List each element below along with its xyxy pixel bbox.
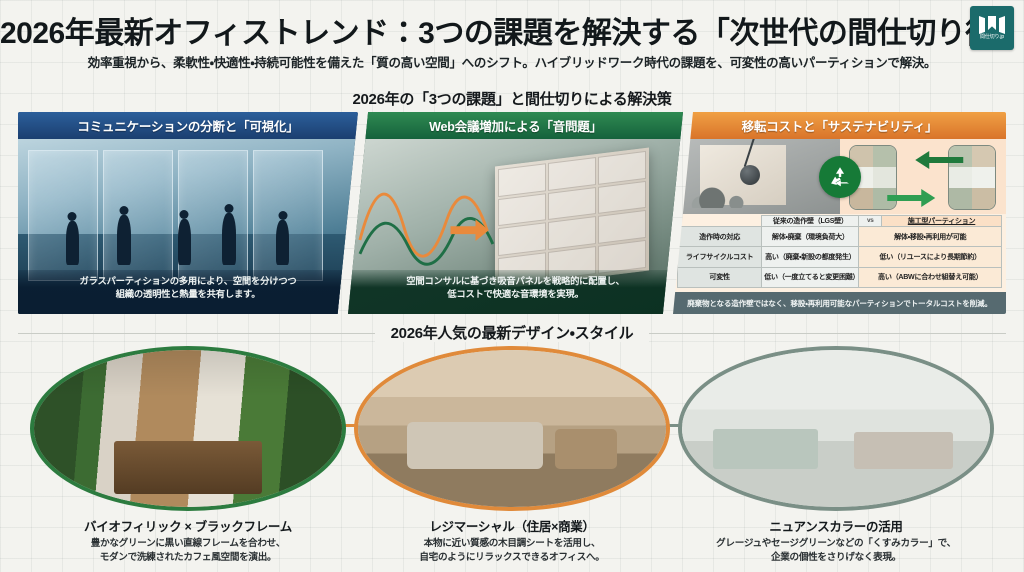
style-card-biophilic[interactable]: バイオフィリック × ブラックフレーム 豊かなグリーンに黒い直線フレームを合わせ… [30, 346, 346, 511]
style-caption-biophilic: バイオフィリック × ブラックフレーム 豊かなグリーンに黒い直線フレームを合わせ… [22, 516, 354, 565]
logo-text: 間仕切り.jp [980, 35, 1004, 40]
style-photo-resimercial [354, 346, 670, 511]
table-row: 造作時の対応 解体・廃棄（環境負荷大） 解体・移設・再利用が可能 [678, 227, 1002, 247]
table-cell-partition: 解体・移設・再利用が可能 [859, 227, 1002, 247]
table-cell-partition: 低い（リユースにより長期節約） [859, 247, 1002, 267]
recycle-icon [819, 156, 861, 198]
reuse-arrows-icon [840, 139, 1007, 214]
style-card-resimercial[interactable]: レジマーシャル（住居×商業） 本物に近い質感の木目調シートを活用し、 自宅のよう… [354, 346, 670, 511]
style-caption-resimercial: レジマーシャル（住居×商業） 本物に近い質感の木目調シートを活用し、 自宅のよう… [346, 516, 678, 565]
table-row-label: 造作時の対応 [678, 227, 762, 247]
table-row: ライフサイクルコスト 高い（廃棄・新設の都度発生） 低い（リユースにより長期節約… [678, 247, 1002, 267]
table-row-label: 可変性 [678, 267, 762, 287]
table-cell-conventional: 高い（廃棄・新設の都度発生） [762, 247, 859, 267]
design-style-cards: バイオフィリック × ブラックフレーム 豊かなグリーンに黒い直線フレームを合わせ… [18, 346, 1006, 566]
style-photo-biophilic [30, 346, 346, 511]
table-header-row: 従来の造作壁（LGS壁） vs 施工型パーティション [678, 216, 1002, 227]
panel-acoustics-caption: 空間コンサルに基づき吸音パネルを戦略的に配置し、 低コストで快適な音環境を実現。 [348, 270, 683, 314]
logo-mark-icon [979, 16, 1005, 34]
panel-acoustics-title: Web会議増加による「音問題」 [348, 112, 683, 139]
brand-logo[interactable]: 間仕切り.jp [970, 6, 1014, 50]
page-title: 2026年最新オフィストレンド：3つの課題を解決する「次世代の間仕切り術」 [0, 8, 1024, 52]
challenge-panels: コミュニケーションの分断と「可視化」 ガラスパーティションの多用により、空間を分… [18, 112, 1006, 314]
section1-heading: 2026年の「3つの課題」と間仕切りによる解決策 [0, 88, 1024, 109]
table-row: 可変性 低い（一度立てると変更困難） 高い（ABWに合わせ組替え可能） [678, 267, 1002, 287]
table-vs-label: vs [859, 216, 882, 227]
style-desc-line1: 本物に近い質感の木目調シートを活用し、 [346, 537, 678, 551]
table-col-conventional: 従来の造作壁（LGS壁） [762, 216, 859, 227]
panel-sustainability-title: 移転コストと「サステナビリティ」 [673, 112, 1006, 139]
table-col-partition: 施工型パーティション [882, 216, 1002, 227]
table-row-label: ライフサイクルコスト [678, 247, 762, 267]
style-title: レジマーシャル（住居×商業） [346, 516, 678, 535]
style-desc-line1: 豊かなグリーンに黒い直線フレームを合わせ、 [22, 537, 354, 551]
style-title: バイオフィリック × ブラックフレーム [22, 516, 354, 535]
comparison-table: 従来の造作壁（LGS壁） vs 施工型パーティション 造作時の対応 解体・廃棄（… [677, 215, 1002, 288]
section2-heading: 2026年人気の最新デザイン・スタイル [0, 322, 1024, 343]
sound-absorbing-panel [495, 147, 649, 288]
style-title: ニュアンスカラーの活用 [670, 516, 1002, 535]
sustainability-illustration [673, 139, 1006, 214]
infographic-page: 2026年最新オフィストレンド：3つの課題を解決する「次世代の間仕切り術」 効率… [0, 0, 1024, 572]
panel-sustainability[interactable]: 移転コストと「サステナビリティ」 [673, 112, 1006, 314]
style-desc-line2: モダンで洗練されたカフェ風空間を演出。 [22, 551, 354, 565]
style-card-nuance-color[interactable]: ニュアンスカラーの活用 グレージュやセージグリーンなどの「くすみカラー」で、 企… [678, 346, 994, 511]
sound-wave-icon [358, 171, 512, 280]
style-desc-line2: 自宅のようにリラックスできるオフィスへ。 [346, 551, 678, 565]
style-caption-nuance-color: ニュアンスカラーの活用 グレージュやセージグリーンなどの「くすみカラー」で、 企… [670, 516, 1002, 565]
style-desc-line1: グレージュやセージグリーンなどの「くすみカラー」で、 [670, 537, 1002, 551]
panel-communication-title: コミュニケーションの分断と「可視化」 [18, 112, 358, 139]
style-photo-nuance-color [678, 346, 994, 511]
style-desc-line2: 企業の個性をさりげなく表現。 [670, 551, 1002, 565]
table-cell-conventional: 解体・廃棄（環境負荷大） [762, 227, 859, 247]
panel-communication-caption: ガラスパーティションの多用により、空間を分けつつ 組織の透明性と熱量を共有します… [18, 270, 358, 314]
table-cell-partition: 高い（ABWに合わせ組替え可能） [859, 267, 1002, 287]
page-subtitle: 効率重視から、柔軟性・快適性・持続可能性を備えた「質の高い空間」へのシフト。ハイ… [0, 52, 1024, 71]
reusable-partition-illustration [840, 139, 1007, 214]
table-cell-conventional: 低い（一度立てると変更困難） [762, 267, 859, 287]
panel-sustainability-caption: 廃棄物となる造作壁ではなく、移設・再利用可能なパーティションでトータルコストを削… [673, 292, 1006, 314]
header: 2026年最新オフィストレンド：3つの課題を解決する「次世代の間仕切り術」 効率… [0, 0, 1024, 82]
panel-acoustics[interactable]: Web会議増加による「音問題」 空間コンサルに基づき吸音パネルを戦略的に配置し、… [348, 112, 683, 314]
demolition-illustration [673, 139, 840, 214]
panel-communication[interactable]: コミュニケーションの分断と「可視化」 ガラスパーティションの多用により、空間を分… [18, 112, 358, 314]
